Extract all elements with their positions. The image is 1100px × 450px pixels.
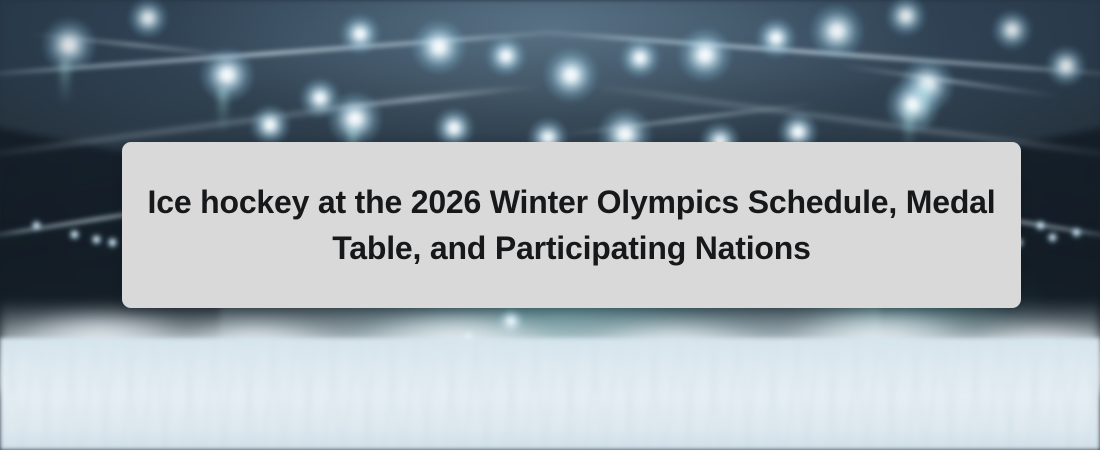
ice-skate-marks [0, 338, 1100, 450]
hero-banner: Ice hockey at the 2026 Winter Olympics S… [0, 0, 1100, 450]
page-title: Ice hockey at the 2026 Winter Olympics S… [132, 179, 1012, 271]
hero-title-card: Ice hockey at the 2026 Winter Olympics S… [122, 142, 1021, 308]
